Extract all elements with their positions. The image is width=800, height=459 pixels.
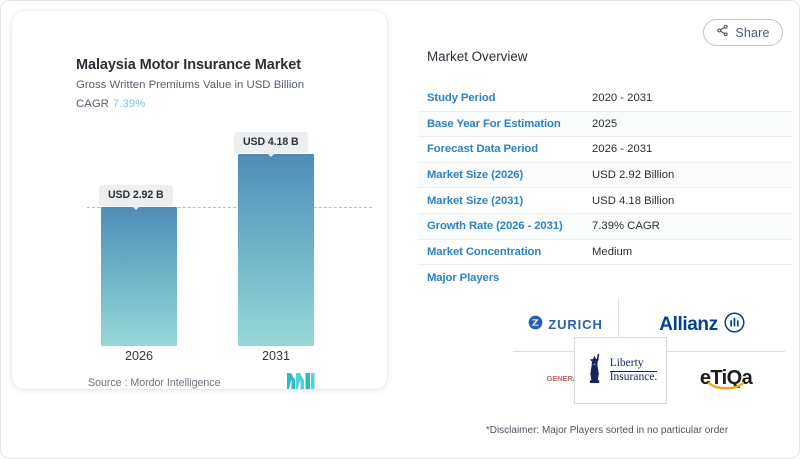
table-row: Study Period 2020 - 2031 <box>418 86 792 112</box>
table-row: Forecast Data Period 2026 - 2031 <box>418 137 792 163</box>
bar-2031 <box>238 154 314 346</box>
table-row: Growth Rate (2026 - 2031) 7.39% CAGR <box>418 214 792 240</box>
market-overview-title: Market Overview <box>427 49 527 64</box>
table-row: Base Year For Estimation 2025 <box>418 112 792 138</box>
bar-chart-plot: USD 2.92 B USD 4.18 B 2026 2031 <box>12 11 387 389</box>
x-tick-2026: 2026 <box>101 349 177 363</box>
zurich-label: ZURICH <box>548 317 603 332</box>
liberty-statue-icon <box>584 352 607 389</box>
liberty-label-line2: Insurance. <box>610 372 658 384</box>
bar-value-label-2026: USD 2.92 B <box>99 185 173 206</box>
row-value: USD 2.92 Billion <box>592 169 674 181</box>
row-value: USD 4.18 Billion <box>592 195 674 207</box>
allianz-mark-icon <box>724 312 745 338</box>
bar-2026 <box>101 207 177 346</box>
row-key: Market Concentration <box>418 246 592 258</box>
market-overview-table: Study Period 2020 - 2031 Base Year For E… <box>418 86 792 291</box>
row-key: Market Size (2026) <box>418 169 592 181</box>
etiqa-swoosh-icon <box>708 378 744 396</box>
mordor-intelligence-logo <box>287 373 315 394</box>
table-row: Market Size (2026) USD 2.92 Billion <box>418 163 792 189</box>
chart-card: Malaysia Motor Insurance Market Gross Wr… <box>12 11 387 389</box>
table-row: Market Concentration Medium <box>418 240 792 266</box>
row-value: 2020 - 2031 <box>592 92 652 104</box>
row-key: Base Year For Estimation <box>418 118 592 130</box>
row-key: Growth Rate (2026 - 2031) <box>418 220 592 232</box>
share-button[interactable]: Share <box>703 19 783 46</box>
report-page: Share Malaysia Motor Insurance Market Gr… <box>0 0 800 459</box>
table-row-major-players: Major Players <box>418 265 792 291</box>
row-value: 2025 <box>592 118 617 130</box>
row-key: Study Period <box>418 92 592 104</box>
row-value: Medium <box>592 246 632 258</box>
table-row: Market Size (2031) USD 4.18 Billion <box>418 188 792 214</box>
disclaimer-text: *Disclaimer: Major Players sorted in no … <box>422 425 792 436</box>
major-players-logo-grid: ZURICH Allianz GENERALI e <box>513 298 785 404</box>
row-key: Forecast Data Period <box>418 143 592 155</box>
allianz-label: Allianz <box>659 314 717 336</box>
bar-value-label-2031: USD 4.18 B <box>234 132 308 153</box>
row-value: 7.39% CAGR <box>592 220 660 232</box>
chart-source: Source : Mordor Intelligence <box>88 377 221 389</box>
share-button-label: Share <box>735 26 769 40</box>
zurich-mark-icon <box>528 315 543 335</box>
row-key: Major Players <box>418 272 592 284</box>
row-value: 2026 - 2031 <box>592 143 652 155</box>
logo-etiqa: eTiQa <box>667 352 785 404</box>
share-nodes-icon <box>716 24 729 42</box>
x-tick-2031: 2031 <box>238 349 314 363</box>
liberty-label-line1: Liberty <box>610 358 658 372</box>
logo-liberty-insurance: Liberty Insurance. <box>574 337 667 404</box>
row-key: Market Size (2031) <box>418 195 592 207</box>
